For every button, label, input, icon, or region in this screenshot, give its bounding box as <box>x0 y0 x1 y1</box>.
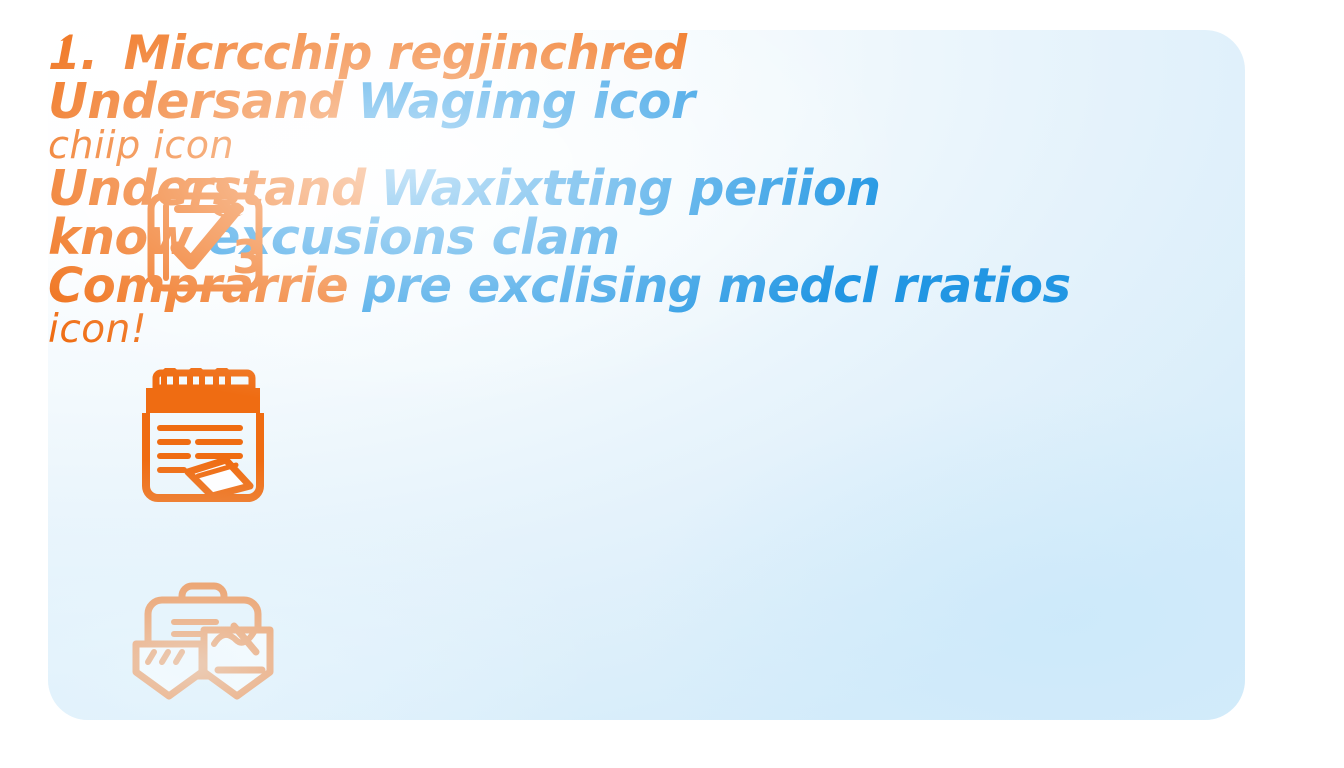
briefcase-documents-icon <box>130 582 276 704</box>
list-item-4-subtext-label: icon! <box>48 307 147 352</box>
clipboard-check-3-icon: 3 <box>144 178 268 294</box>
list-item-2-heading-blue: Wagimg icor <box>358 73 695 130</box>
list-item-2-heading-orange: Undersand <box>48 73 343 130</box>
list-item-4-subtext: icon! <box>48 310 1245 349</box>
list-item-2-subtext: chiip icon <box>48 126 1245 164</box>
calendar-document-pen-icon <box>140 368 266 504</box>
screenshot-root: 1.Micrcchip regjinchred 3 UndersandWagim… <box>0 0 1344 768</box>
list-item-1-heading: 1.Micrcchip regjinchred <box>48 30 1245 77</box>
checklist-card: 1.Micrcchip regjinchred 3 UndersandWagim… <box>48 30 1245 720</box>
list-item-2-heading: UndersandWagimg icor <box>48 77 1245 126</box>
list-item-4-heading-blue: pre exclising medcl rratios <box>362 258 1070 314</box>
svg-text:3: 3 <box>232 230 264 284</box>
